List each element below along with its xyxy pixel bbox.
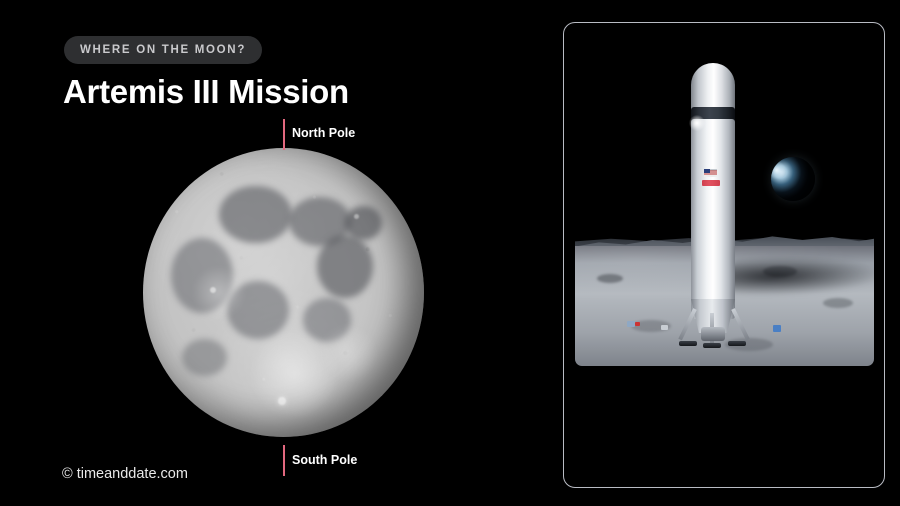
- engine-cluster: [701, 327, 725, 341]
- eyebrow-badge: WHERE ON THE MOON?: [64, 36, 262, 64]
- slide-canvas: WHERE ON THE MOON? Artemis III Mission N…: [0, 0, 900, 506]
- lander-photo: [575, 33, 874, 366]
- south-pole-marker-line: [283, 445, 285, 476]
- surface-equipment: [773, 325, 781, 332]
- landing-footpad: [728, 341, 746, 346]
- south-pole-label: South Pole: [292, 453, 357, 467]
- north-pole-label: North Pole: [292, 126, 355, 140]
- ground-crater: [597, 274, 623, 283]
- moon-disc: [143, 148, 424, 437]
- earth-crescent-highlight: [771, 157, 815, 201]
- landing-footpad: [703, 343, 721, 348]
- lander-body: [691, 119, 735, 319]
- us-flag-decal: [704, 169, 717, 177]
- mission-info-panel: Location: South Pole region Credit: Spac…: [563, 22, 885, 488]
- moon-surface-texture: [143, 148, 424, 437]
- surface-equipment: [627, 321, 635, 327]
- landing-footpad: [679, 341, 697, 346]
- ground-crater: [823, 298, 853, 308]
- nasa-logo-decal: [702, 180, 720, 186]
- surface-flag: [635, 322, 640, 326]
- page-title: Artemis III Mission: [63, 73, 349, 111]
- moon-illustration: [143, 148, 424, 437]
- watermark: © timeanddate.com: [62, 466, 188, 482]
- sun-glint: [689, 115, 705, 131]
- eyebrow-badge-label: WHERE ON THE MOON?: [80, 44, 246, 56]
- north-pole-marker-line: [283, 119, 285, 150]
- surface-equipment: [661, 325, 668, 330]
- starship-lander: [683, 63, 743, 351]
